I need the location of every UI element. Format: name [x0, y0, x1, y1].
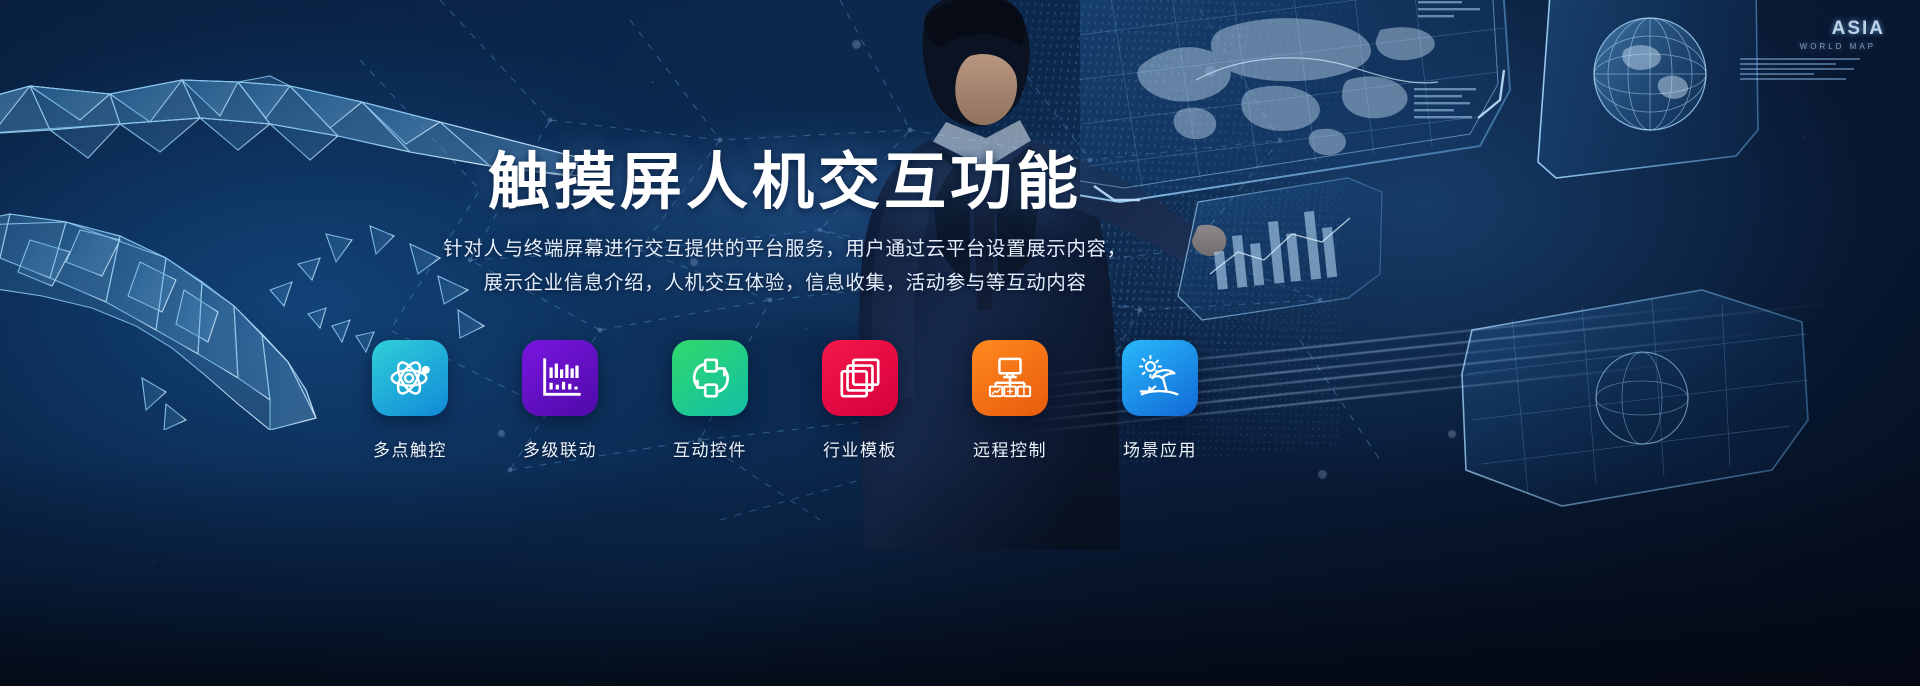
- feature-item-remote-control[interactable]: 远程控制: [964, 340, 1056, 461]
- feature-label: 场景应用: [1123, 436, 1197, 461]
- layers-stack-icon: [837, 355, 883, 401]
- subtitle-line-2: 展示企业信息介绍，人机交互体验，信息收集，活动参与等互动内容: [0, 266, 1570, 300]
- feature-tile[interactable]: [972, 340, 1048, 416]
- bar-chart-icon: [537, 355, 583, 401]
- page-subtitle: 针对人与终端屏幕进行交互提供的平台服务，用户通过云平台设置展示内容， 展示企业信…: [0, 232, 1570, 300]
- feature-tile[interactable]: [672, 340, 748, 416]
- feature-tile[interactable]: [822, 340, 898, 416]
- feature-tile[interactable]: [372, 340, 448, 416]
- feature-label: 多点触控: [373, 436, 447, 461]
- feature-tile[interactable]: [522, 340, 598, 416]
- beach-scene-icon: [1137, 355, 1183, 401]
- remote-monitor-icon: [987, 355, 1033, 401]
- banner-content: 触摸屏人机交互功能 针对人与终端屏幕进行交互提供的平台服务，用户通过云平台设置展…: [0, 0, 1920, 686]
- hero-banner: ASIA WORLD MAP 触摸屏人机交互功能 针对人与终端屏幕进行交互提供的…: [0, 0, 1920, 686]
- feature-item-multi-touch[interactable]: 多点触控: [364, 340, 456, 461]
- page-title: 触摸屏人机交互功能: [0, 152, 1570, 214]
- atom-icon: [387, 355, 433, 401]
- feature-item-multi-level-linkage[interactable]: 多级联动: [514, 340, 606, 461]
- feature-label: 行业模板: [823, 436, 897, 461]
- feature-item-industry-template[interactable]: 行业模板: [814, 340, 906, 461]
- feature-item-scene-application[interactable]: 场景应用: [1114, 340, 1206, 461]
- feature-tile[interactable]: [1122, 340, 1198, 416]
- feature-item-interactive-widgets[interactable]: 互动控件: [664, 340, 756, 461]
- feature-label: 多级联动: [523, 436, 597, 461]
- feature-label: 远程控制: [973, 436, 1047, 461]
- feature-list: 多点触控: [0, 340, 1570, 461]
- subtitle-line-1: 针对人与终端屏幕进行交互提供的平台服务，用户通过云平台设置展示内容，: [0, 232, 1570, 266]
- feature-label: 互动控件: [673, 436, 747, 461]
- sync-widgets-icon: [687, 355, 733, 401]
